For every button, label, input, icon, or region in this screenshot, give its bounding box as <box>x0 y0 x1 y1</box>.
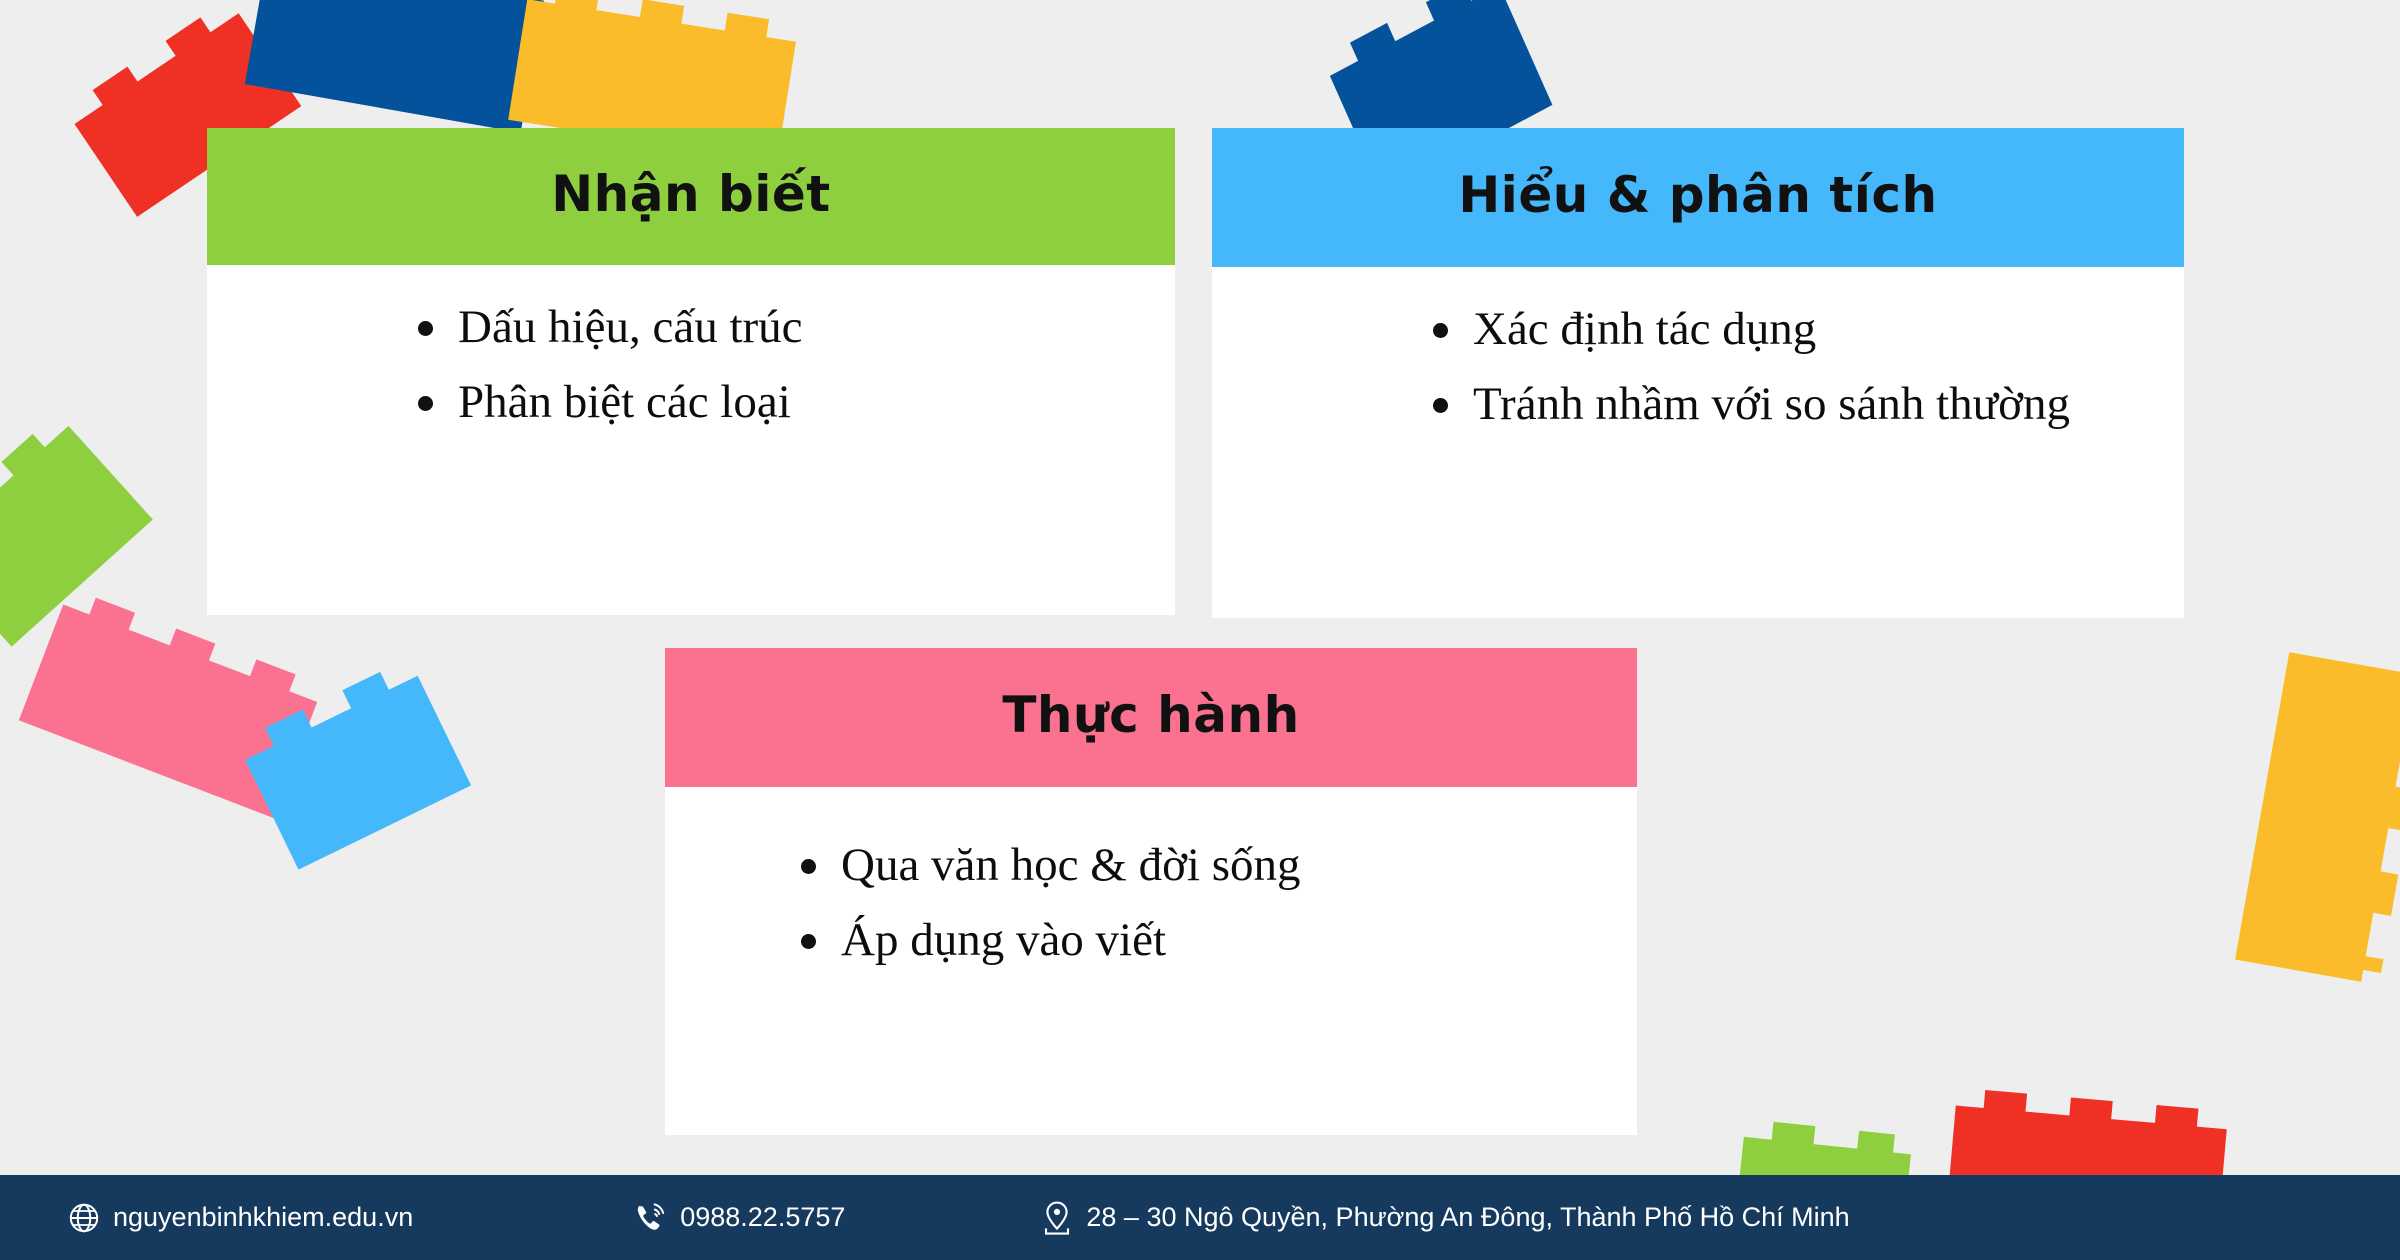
footer-address[interactable]: 28 – 30 Ngô Quyền, Phường An Đông, Thành… <box>1041 1200 1849 1236</box>
card-nhan-biet: Nhận biết Dấu hiệu, cấu trúc Phân biệt c… <box>207 128 1175 615</box>
list-item: Áp dụng vào viết <box>795 912 1597 969</box>
slide-canvas: Nhận biết Dấu hiệu, cấu trúc Phân biệt c… <box>0 0 2400 1260</box>
list-item: Qua văn học & đời sống <box>795 837 1597 894</box>
card-hieu-phan-tich-list: Xác định tác dụng Tránh nhầm với so sánh… <box>1427 301 2114 434</box>
list-item: Dấu hiệu, cấu trúc <box>412 299 1135 356</box>
footer-website[interactable]: nguyenbinhkhiem.edu.vn <box>68 1202 413 1234</box>
card-nhan-biet-list: Dấu hiệu, cấu trúc Phân biệt các loại <box>412 299 1135 432</box>
footer-phone-text: 0988.22.5757 <box>680 1202 845 1233</box>
card-nhan-biet-body: Dấu hiệu, cấu trúc Phân biệt các loại <box>207 265 1175 432</box>
card-thuc-hanh-title: Thực hành <box>1002 686 1299 744</box>
list-item: Xác định tác dụng <box>1427 301 2114 358</box>
footer-website-text: nguyenbinhkhiem.edu.vn <box>113 1202 413 1233</box>
list-item: Tránh nhầm với so sánh thường <box>1427 376 2114 433</box>
location-pin-icon <box>1041 1200 1073 1236</box>
card-thuc-hanh-header: Thực hành <box>665 648 1637 787</box>
brick-yellow-bottom-right <box>2213 649 2400 1006</box>
list-item: Phân biệt các loại <box>412 374 1135 431</box>
phone-ring-icon <box>633 1201 667 1235</box>
card-hieu-phan-tich: Hiểu & phân tích Xác định tác dụng Tránh… <box>1212 128 2184 618</box>
card-thuc-hanh-list: Qua văn học & đời sống Áp dụng vào viết <box>795 837 1597 970</box>
card-thuc-hanh: Thực hành Qua văn học & đời sống Áp dụng… <box>665 648 1637 1135</box>
card-thuc-hanh-body: Qua văn học & đời sống Áp dụng vào viết <box>665 787 1637 970</box>
footer-bar: nguyenbinhkhiem.edu.vn 0988.22.5757 <box>0 1175 2400 1260</box>
card-hieu-phan-tich-title: Hiểu & phân tích <box>1458 166 1937 224</box>
card-nhan-biet-header: Nhận biết <box>207 128 1175 265</box>
footer-address-text: 28 – 30 Ngô Quyền, Phường An Đông, Thành… <box>1086 1202 1849 1233</box>
card-hieu-phan-tich-body: Xác định tác dụng Tránh nhầm với so sánh… <box>1212 267 2184 434</box>
globe-icon <box>68 1202 100 1234</box>
card-nhan-biet-title: Nhận biết <box>551 165 830 223</box>
card-hieu-phan-tich-header: Hiểu & phân tích <box>1212 128 2184 267</box>
footer-phone[interactable]: 0988.22.5757 <box>633 1201 845 1235</box>
